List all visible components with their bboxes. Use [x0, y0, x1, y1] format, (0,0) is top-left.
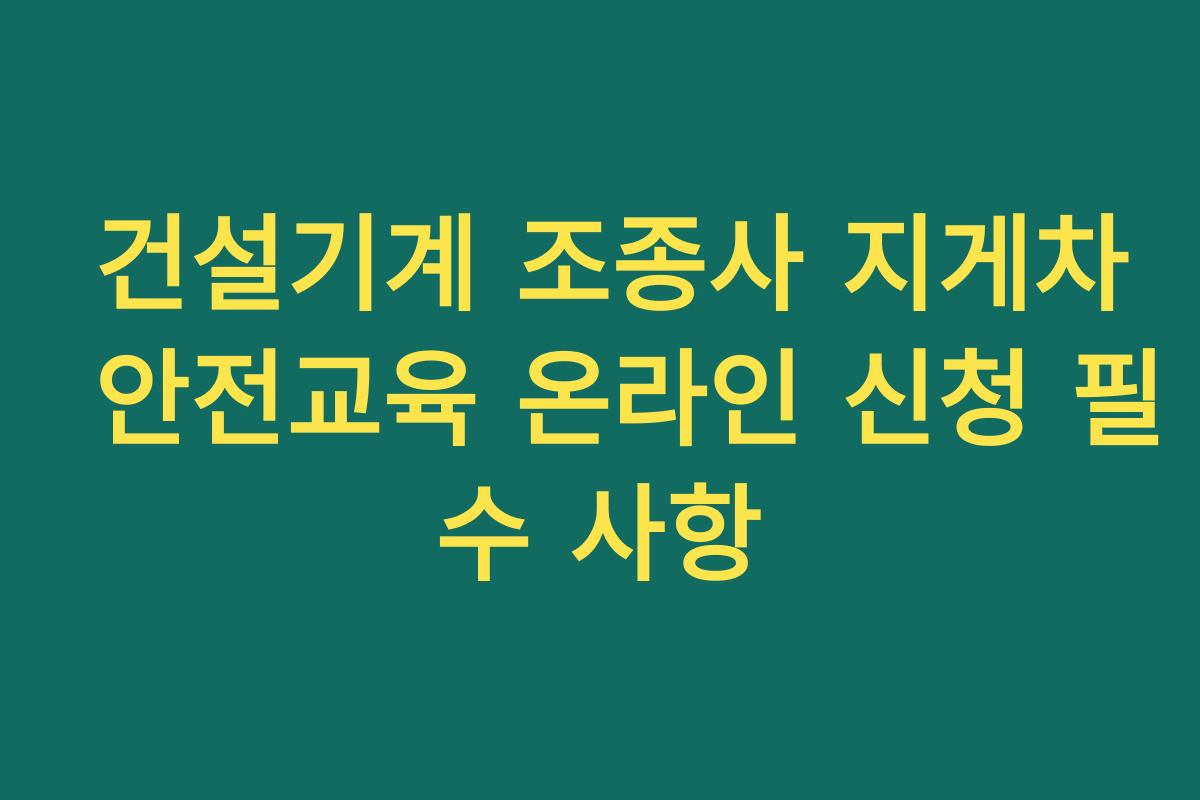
title-line-3: 수 사항: [95, 468, 1105, 603]
title-line-1: 건설기계 조종사 지게차: [95, 198, 1105, 333]
title-line-2: 안전교육 온라인 신청 필: [95, 333, 1105, 468]
title-banner: 건설기계 조종사 지게차 안전교육 온라인 신청 필 수 사항: [0, 0, 1200, 800]
page-title: 건설기계 조종사 지게차 안전교육 온라인 신청 필 수 사항: [95, 198, 1105, 603]
